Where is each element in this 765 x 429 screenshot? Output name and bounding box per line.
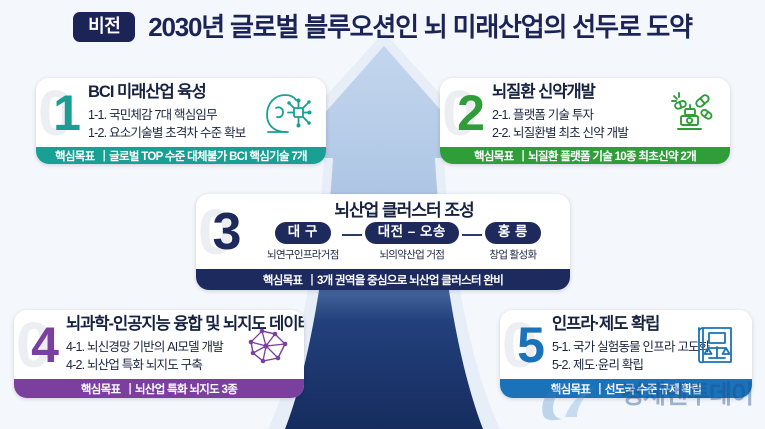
goal-value: 글로벌 TOP 수준 대체불가 BCI 핵심기술 7개 (109, 148, 307, 164)
card-line-1: 5-1. 국가 실험동물 인프라 고도화 (552, 338, 688, 356)
brain-chip-icon (262, 87, 316, 139)
card-line-1: 1-1. 국민체감 7대 핵심임무 (88, 106, 262, 124)
card-number: 1 (44, 88, 88, 138)
book-scales-icon (688, 319, 742, 371)
pill-microscope-icon (666, 87, 720, 139)
cluster-item-daejeon-osong[interactable]: 대전 – 오송 뇌의약산업 거점 (365, 222, 459, 262)
card-texts: 뇌과학-인공지능 융합 및 뇌지도 데이터 4-1. 뇌신경망 기반의 AI모델… (66, 315, 240, 374)
page-title: 2030년 글로벌 블루오션인 뇌 미래산업의 선두로 도약 (148, 14, 692, 40)
card-number: 5 (508, 320, 552, 370)
card-texts: 뇌질환 신약개발 2-1. 플랫폼 기술 투자 2-2. 뇌질환별 최초 신약 … (492, 83, 666, 142)
neural-network-brain-icon (240, 319, 294, 371)
card-body: 0 1 BCI 미래산업 육성 1-1. 국민체감 7대 핵심임무 1-2. 요… (36, 78, 326, 147)
card-title: 인프라·제도 확립 (552, 315, 688, 335)
header: 비전 2030년 글로벌 블루오션인 뇌 미래산업의 선두로 도약 (0, 4, 765, 50)
card-goal-footer: 핵심목표 | 글로벌 TOP 수준 대체불가 BCI 핵심기술 7개 (36, 147, 326, 164)
goal-value: 뇌질환 플랫폼 기술 10종 최초신약 2개 (528, 148, 696, 164)
card-goal-footer: 핵심목표 | 뇌질환 플랫폼 기술 10종 최초신약 2개 (440, 147, 730, 164)
strategy-card-1[interactable]: 0 1 BCI 미래산업 육성 1-1. 국민체감 7대 핵심임무 1-2. 요… (36, 78, 326, 164)
goal-value: 3개 권역을 중심으로 뇌산업 클러스터 완비 (317, 272, 503, 288)
infographic-canvas: 비전 2030년 글로벌 블루오션인 뇌 미래산업의 선두로 도약 0 1 BC… (0, 0, 765, 429)
card-line-2: 1-2. 요소기술별 초격차 수준 확보 (88, 124, 262, 142)
goal-separator: | (522, 150, 525, 162)
strategy-card-4[interactable]: 0 4 뇌과학-인공지능 융합 및 뇌지도 데이터 4-1. 뇌신경망 기반의 … (14, 310, 304, 398)
card-texts: 인프라·제도 확립 5-1. 국가 실험동물 인프라 고도화 5-2. 제도·윤… (552, 315, 688, 374)
cluster-pill-sublabel: 창업 활성화 (489, 247, 536, 262)
card-goal-footer: 핵심목표 | 선도국 수준 규제 확립 (500, 379, 752, 398)
goal-key: 핵심목표 (551, 381, 591, 397)
goal-separator: | (128, 383, 131, 395)
card-title: 뇌과학-인공지능 융합 및 뇌지도 데이터 (66, 315, 240, 335)
card-title: 뇌산업 클러스터 조성 (334, 201, 473, 221)
cluster-item-hongneung[interactable]: 홍 릉 창업 활성화 (485, 222, 541, 262)
cluster-pill-sublabel: 뇌연구인프라거점 (267, 247, 339, 262)
goal-key: 핵심목표 (263, 272, 303, 288)
strategy-card-5[interactable]: 0 5 인프라·제도 확립 5-1. 국가 실험동물 인프라 고도화 5-2. … (500, 310, 752, 398)
card-body: 0 2 뇌질환 신약개발 2-1. 플랫폼 기술 투자 2-2. 뇌질환별 최초… (440, 78, 730, 147)
card-body: 0 5 인프라·제도 확립 5-1. 국가 실험동물 인프라 고도화 5-2. … (500, 310, 752, 379)
cluster-pill-sublabel: 뇌의약산업 거점 (379, 247, 444, 262)
goal-key: 핵심목표 (55, 148, 95, 164)
cluster-pill-label: 홍 릉 (485, 222, 541, 244)
card-number: 2 (448, 88, 492, 138)
card-goal-footer: 핵심목표 | 뇌산업 특화 뇌지도 3종 (14, 379, 304, 398)
card-title: 뇌질환 신약개발 (492, 83, 666, 103)
goal-key: 핵심목표 (474, 148, 514, 164)
goal-separator: | (103, 150, 106, 162)
card-line-2: 5-2. 제도·윤리 확립 (552, 356, 688, 374)
card-body: 0 4 뇌과학-인공지능 융합 및 뇌지도 데이터 4-1. 뇌신경망 기반의 … (14, 310, 304, 379)
goal-value: 뇌산업 특화 뇌지도 3종 (135, 381, 237, 397)
goal-separator: | (598, 383, 601, 395)
card-line-1: 2-1. 플랫폼 기술 투자 (492, 106, 666, 124)
card-line-2: 4-2. 뇌산업 특화 뇌지도 구축 (66, 356, 240, 374)
card-number: 3 (202, 206, 250, 258)
cluster-pill-label: 대전 – 오송 (365, 222, 459, 244)
card-goal-footer: 핵심목표 | 3개 권역을 중심으로 뇌산업 클러스터 완비 (196, 269, 570, 290)
goal-key: 핵심목표 (81, 381, 121, 397)
cluster-item-daegu[interactable]: 대 구 뇌연구인프라거점 (267, 222, 339, 262)
card-line-1: 4-1. 뇌신경망 기반의 AI모델 개발 (66, 338, 240, 356)
card-body: 0 3 뇌산업 클러스터 조성 대 구 뇌연구인프라거점 대전 – 오송 뇌의약… (196, 194, 570, 269)
goal-separator: | (310, 274, 313, 286)
card-texts: BCI 미래산업 육성 1-1. 국민체감 7대 핵심임무 1-2. 요소기술별… (88, 83, 262, 142)
card-number: 4 (22, 320, 66, 370)
cluster-group: 뇌산업 클러스터 조성 대 구 뇌연구인프라거점 대전 – 오송 뇌의약산업 거… (250, 201, 558, 262)
cluster-pill-row: 대 구 뇌연구인프라거점 대전 – 오송 뇌의약산업 거점 홍 릉 창업 활성화 (267, 222, 541, 262)
cluster-pill-label: 대 구 (275, 222, 331, 244)
goal-value: 선도국 수준 규제 확립 (605, 381, 701, 397)
strategy-card-2[interactable]: 0 2 뇌질환 신약개발 2-1. 플랫폼 기술 투자 2-2. 뇌질환별 최초… (440, 78, 730, 164)
cluster-connector-1 (342, 234, 362, 236)
cluster-connector-2 (462, 234, 482, 236)
strategy-card-3[interactable]: 0 3 뇌산업 클러스터 조성 대 구 뇌연구인프라거점 대전 – 오송 뇌의약… (196, 194, 570, 290)
card-line-2: 2-2. 뇌질환별 최초 신약 개발 (492, 124, 666, 142)
vision-badge: 비전 (73, 12, 135, 42)
card-title: BCI 미래산업 육성 (88, 83, 262, 103)
